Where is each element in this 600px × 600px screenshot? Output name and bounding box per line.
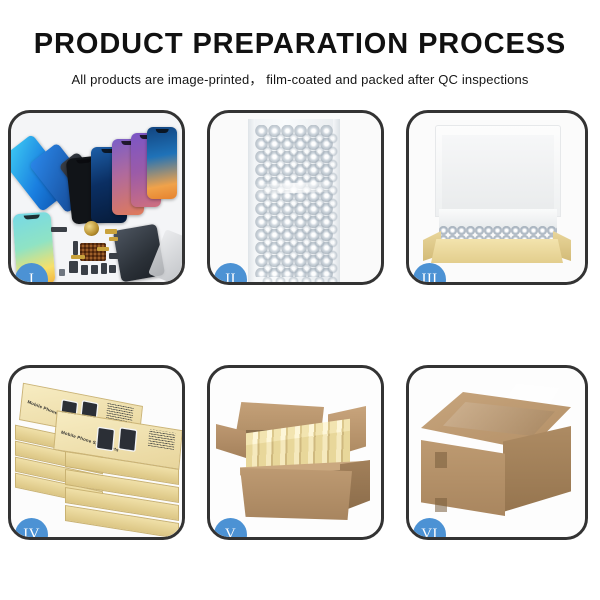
carton-tape-mark <box>435 452 447 468</box>
small-part <box>109 265 116 273</box>
box-label-phone-icon <box>119 428 136 450</box>
small-part <box>51 227 67 232</box>
page-subtitle: All products are image-printed， film-coa… <box>0 69 600 88</box>
small-part <box>101 263 107 274</box>
step-1-image <box>11 113 182 282</box>
page-header: PRODUCT PREPARATION PROCESS All products… <box>0 0 600 88</box>
step-5-image <box>210 368 381 537</box>
process-step-3: III <box>406 110 588 285</box>
box-lid-inner <box>442 135 554 213</box>
small-part <box>109 253 119 259</box>
carton-tape-mark <box>435 498 447 512</box>
box-label-lines <box>148 429 175 450</box>
speaker-coil-part <box>84 221 99 236</box>
flex-cable-part <box>71 255 85 259</box>
process-step-5: V <box>207 365 384 540</box>
flex-cable-part <box>97 247 109 251</box>
process-step-4: Mobile Phone Spare Parts Mobile Phone Sp… <box>8 365 185 540</box>
step-6-image <box>409 368 585 537</box>
carton-front-panel <box>421 440 505 516</box>
carton-front-panel <box>240 468 352 520</box>
small-part <box>81 265 88 275</box>
bubble-wrap-bubbles-layer2 <box>261 132 339 282</box>
step-2-image <box>210 113 381 282</box>
notch-icon <box>24 215 40 220</box>
bubble-wrap-edge-left <box>248 119 255 282</box>
step-4-image: Mobile Phone Spare Parts Mobile Phone Sp… <box>11 368 182 537</box>
notch-icon <box>76 158 91 164</box>
phone-screen-orange <box>147 127 177 199</box>
page-title: PRODUCT PREPARATION PROCESS <box>0 29 600 59</box>
small-part <box>91 265 98 274</box>
process-step-2: II <box>207 110 384 285</box>
flex-cable-part <box>109 237 118 241</box>
process-step-6: VI <box>406 365 588 540</box>
process-step-1: I <box>8 110 185 285</box>
flex-cable-part <box>105 229 117 234</box>
process-step-grid: I II III <box>8 110 592 540</box>
notch-icon <box>156 129 169 133</box>
small-part <box>69 261 78 273</box>
small-part <box>73 241 78 255</box>
box-front-kraft <box>431 239 563 263</box>
step-3-image <box>409 113 585 282</box>
box-label-phone-icon <box>97 428 114 450</box>
small-part <box>59 269 65 276</box>
